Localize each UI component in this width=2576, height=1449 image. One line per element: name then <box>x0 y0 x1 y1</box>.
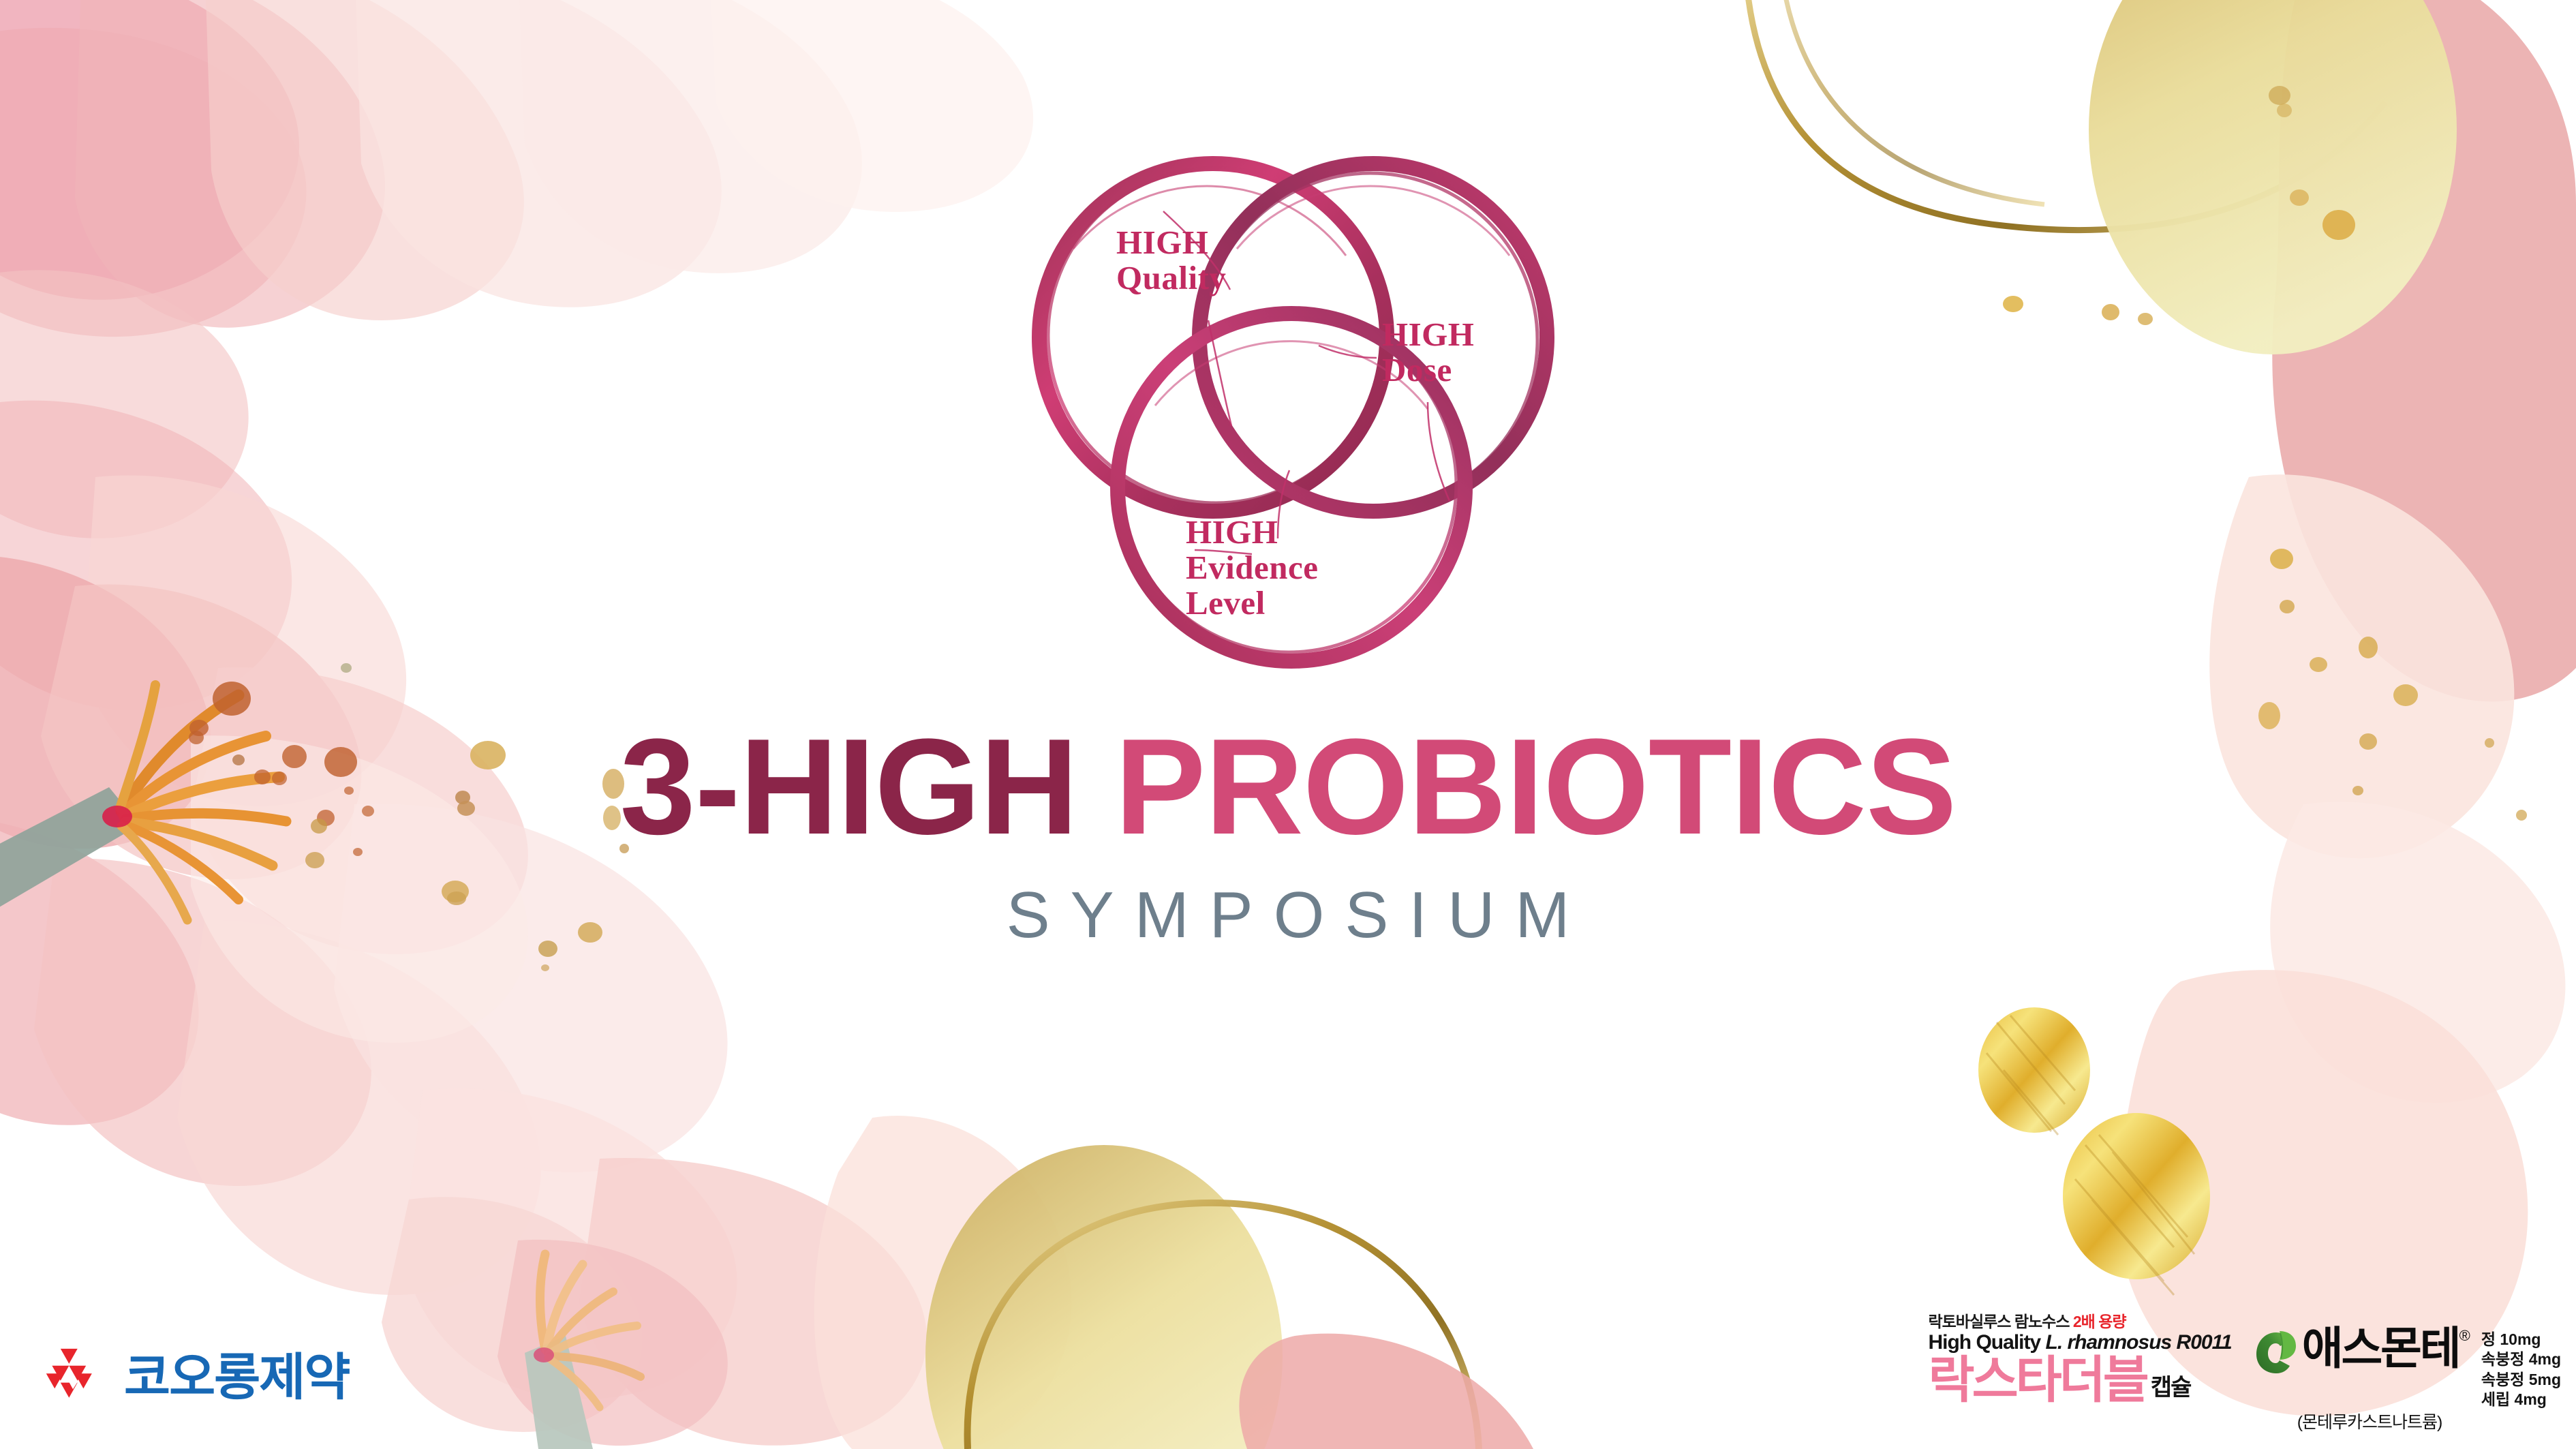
kolon-triangle-mark <box>41 1346 106 1409</box>
corporate-name: 코오롱제약 <box>124 1352 349 1403</box>
symposium-poster: HIGH Quality HIGH Dose HIGH Evidence Lev… <box>0 0 2576 1449</box>
tagline-en-plain: High Quality <box>1928 1331 2045 1354</box>
tagline-en-italic: L. rhamnosus R0011 <box>2046 1331 2232 1354</box>
dose-item: 세립 4mg <box>2481 1390 2561 1409</box>
title-block: 3-HIGH PROBIOTICS SYMPOSIUM <box>0 719 2576 948</box>
registered-trademark-icon: ® <box>2459 1328 2470 1343</box>
decoration-bottom-centre <box>814 1116 1533 1449</box>
emblem-label-dose: HIGH Dose <box>1382 317 1573 388</box>
page-title: 3-HIGH PROBIOTICS <box>0 719 2576 855</box>
emblem-label-quality: HIGH Quality <box>1116 225 1321 296</box>
title-part-1: 3-HIGH <box>620 711 1078 863</box>
title-part-2: PROBIOTICS <box>1077 711 1956 863</box>
three-high-emblem <box>992 133 1591 719</box>
product-lockups: 락토바실루스 람노수스 2배 용량 High Quality L. rhamno… <box>1928 1312 2561 1431</box>
product-dose-list: 정 10mg 속붕정 4mg 속붕정 5mg 세립 4mg <box>2481 1330 2561 1410</box>
emblem-label-evidence: HIGH Evidence Level <box>1186 515 1411 621</box>
product-tagline-kr: 락토바실루스 람노수스 2배 용량 <box>1928 1313 2231 1330</box>
product-dosage-form: 캡슐 <box>2151 1376 2191 1403</box>
dose-item: 정 10mg <box>2481 1330 2561 1349</box>
dose-item: 속붕정 4mg <box>2481 1349 2561 1369</box>
page-subtitle: SYMPOSIUM <box>0 883 2576 948</box>
tagline-kr-plain: 락토바실루스 람노수스 <box>1928 1313 2072 1330</box>
product-lactostable: 락토바실루스 람노수스 2배 용량 High Quality L. rhamno… <box>1928 1312 2231 1403</box>
tagline-kr-highlight: 2배 용량 <box>2073 1313 2126 1330</box>
product-asmonte: 애스몬테 ® 정 10mg 속붕정 4mg 속붕정 5mg 세립 4mg (몬테… <box>2255 1312 2561 1431</box>
product-brand-name: 애스몬테 <box>2302 1327 2459 1370</box>
dose-item: 속붕정 5mg <box>2481 1370 2561 1390</box>
leaf-icon <box>2255 1330 2297 1375</box>
corporate-logo: 코오롱제약 <box>41 1346 349 1409</box>
product-generic-name: (몬테루카스트나트륨) <box>2297 1414 2561 1431</box>
product-brand-name: 락스타더블 <box>1928 1357 2146 1403</box>
